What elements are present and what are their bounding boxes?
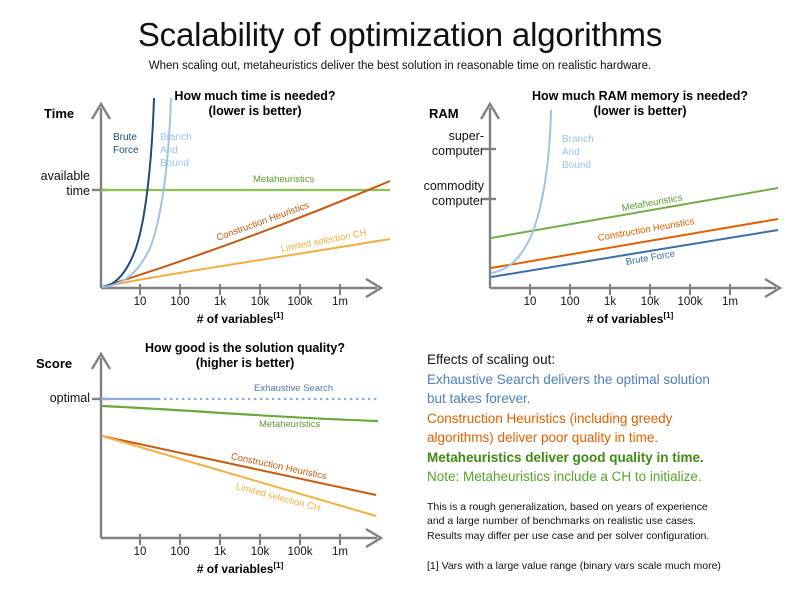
x-tick-label-score-3: 10k	[240, 546, 280, 558]
notes-disclaimer-line-3: Results may differ per use case and per …	[427, 529, 787, 544]
x-axis-caption-score: # of variables[1]	[155, 561, 325, 576]
x-tick-label-ram-1: 100	[550, 296, 590, 308]
x-tick-label-score-2: 1k	[200, 546, 240, 558]
x-tick-label-time-0: 10	[120, 296, 160, 308]
x-tick-label-score-5: 1m	[320, 546, 360, 558]
x-tick-label-score-4: 100k	[280, 546, 320, 558]
poster-root: Scalability of optimization algorithms W…	[0, 0, 800, 600]
series-label-brute-force-time: BruteForce	[113, 131, 139, 157]
series-label-branch-and-bound-ram: BranchAndBound	[562, 133, 594, 172]
x-tick-label-ram-0: 10	[510, 296, 550, 308]
x-tick-label-ram-4: 100k	[670, 296, 710, 308]
series-line-branch-and-bound-ram	[491, 110, 551, 273]
notes-blue-line-1: Exhaustive Search delivers the optimal s…	[427, 370, 787, 390]
notes-heading: Effects of scaling out:	[427, 350, 787, 370]
x-tick-label-time-1: 100	[160, 296, 200, 308]
notes-green-bold: Metaheuristics deliver good quality in t…	[427, 448, 787, 468]
chart-svg-score	[0, 330, 410, 600]
x-tick-label-time-5: 1m	[320, 296, 360, 308]
series-line-limited-selection-ch-time	[102, 239, 390, 287]
notes-orange-line-2: algorithms) deliver poor quality in time…	[427, 428, 787, 448]
chart-panel-ram: How much RAM memory is needed? (lower is…	[410, 0, 800, 330]
x-tick-label-score-1: 100	[160, 546, 200, 558]
notes-disclaimer: This is a rough generalization, based on…	[427, 500, 787, 544]
series-line-limited-selection-ch-score	[102, 436, 376, 516]
x-tick-label-ram-5: 1m	[710, 296, 750, 308]
notes-disclaimer-line-1: This is a rough generalization, based on…	[427, 500, 787, 515]
chart-svg-time	[0, 0, 410, 330]
series-label-metaheuristics-score: Metaheuristics	[259, 419, 320, 430]
x-tick-label-time-2: 1k	[200, 296, 240, 308]
x-axis-caption-ram: # of variables[1]	[545, 311, 715, 326]
notes-panel: Effects of scaling out: Exhaustive Searc…	[427, 350, 787, 572]
x-tick-label-ram-3: 10k	[630, 296, 670, 308]
chart-svg-ram	[410, 0, 800, 330]
axis-lines-score	[92, 354, 381, 547]
chart-panel-time: How much time is needed? (lower is bette…	[0, 0, 410, 330]
notes-orange-line-1: Construction Heuristics (including greed…	[427, 409, 787, 429]
x-tick-label-score-0: 10	[120, 546, 160, 558]
series-label-exhaustive-search-score: Exhaustive Search	[254, 383, 333, 394]
x-axis-caption-time: # of variables[1]	[155, 311, 325, 326]
series-line-brute-force-time	[102, 98, 154, 287]
notes-blue-line-2: but takes forever.	[427, 389, 787, 409]
x-tick-label-ram-2: 1k	[590, 296, 630, 308]
chart-panel-score: How good is the solution quality? (highe…	[0, 330, 410, 600]
x-tick-label-time-4: 100k	[280, 296, 320, 308]
notes-disclaimer-line-2: and a large number of benchmarks on real…	[427, 514, 787, 529]
series-line-metaheuristics-score	[102, 406, 378, 421]
series-label-branch-and-bound-time: BranchAndBound	[160, 131, 192, 170]
notes-footnote: [1] Vars with a large value range (binar…	[427, 560, 787, 572]
series-label-metaheuristics-time: Metaheuristics	[253, 174, 314, 185]
series-line-branch-and-bound-time	[102, 98, 171, 287]
notes-green-note: Note: Metaheuristics include a CH to ini…	[427, 467, 787, 487]
x-tick-label-time-3: 10k	[240, 296, 280, 308]
